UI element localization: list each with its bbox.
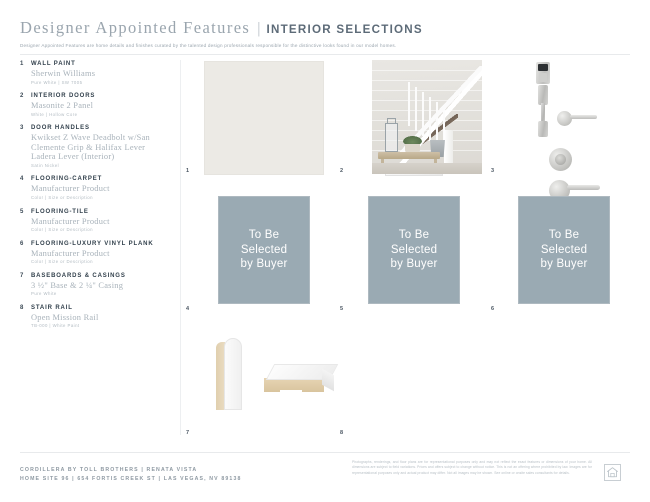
equal-housing-opportunity-icon [604, 464, 621, 481]
footer-community-name: CORDILLERA BY TOLL BROTHERS | RENATA VIS… [20, 466, 242, 475]
spec-product: Sherwin Williams [31, 69, 170, 79]
selection-grid: 1 2 3 [186, 58, 630, 440]
spec-body: Masonite 2 Panel White | Hollow Core [31, 101, 170, 118]
title-separator: | [257, 20, 260, 38]
specification-list: 1 WALL PAINT Sherwin Williams Pure White… [20, 60, 170, 336]
grid-label-8: 8 [340, 430, 343, 436]
list-item: 3 DOOR HANDLES Kwikset Z Wave Deadbolt w… [20, 124, 170, 169]
spec-number: 1 [20, 60, 31, 69]
tbs-text: To BeSelectedby Buyer [241, 228, 288, 272]
spec-product: 3 ½" Base & 2 ¼" Casing [31, 281, 170, 291]
tbs-text: To BeSelectedby Buyer [541, 228, 588, 272]
grid-label-6: 6 [491, 306, 494, 312]
title-row: Designer Appointed Features | INTERIOR S… [20, 18, 630, 38]
spec-detail: Pure White | SW 7005 [31, 80, 170, 86]
spec-body: Sherwin Williams Pure White | SW 7005 [31, 69, 170, 86]
grid-label-5: 5 [340, 306, 343, 312]
brochure-page: Designer Appointed Features | INTERIOR S… [0, 0, 650, 502]
list-item: 2 INTERIOR DOORS Masonite 2 Panel White … [20, 92, 170, 118]
spec-detail: Color | Size or Description [31, 259, 170, 265]
door-grip-lower [538, 121, 548, 137]
halifax-lever-handle [570, 115, 597, 119]
spec-number: 3 [20, 124, 31, 133]
spec-number: 2 [20, 92, 31, 101]
tbs-text: To BeSelectedby Buyer [391, 228, 438, 272]
spec-body: Manufacturer Product Color | Size or Des… [31, 249, 170, 266]
list-item: 8 STAIR RAIL Open Mission Rail TB-000 | … [20, 304, 170, 330]
list-item: 1 WALL PAINT Sherwin Williams Pure White… [20, 60, 170, 86]
spec-number: 8 [20, 304, 31, 313]
spec-heading: 8 STAIR RAIL [20, 304, 170, 313]
grid-label-7: 7 [186, 430, 189, 436]
grid-label-2: 2 [340, 168, 343, 174]
spec-category: STAIR RAIL [31, 304, 73, 313]
spec-category: BASEBOARDS & CASINGS [31, 272, 126, 281]
grid-label-4: 4 [186, 306, 189, 312]
spec-number: 7 [20, 272, 31, 281]
list-item: 7 BASEBOARDS & CASINGS 3 ½" Base & 2 ¼" … [20, 272, 170, 298]
keypad-keys [539, 73, 547, 82]
spec-product: Open Mission Rail [31, 313, 170, 323]
to-be-selected-panel-tile: To BeSelectedby Buyer [368, 196, 460, 304]
console-table [378, 152, 440, 159]
baseboard-casing-image [186, 316, 346, 431]
spec-product: Manufacturer Product [31, 184, 170, 194]
spec-category: FLOORING-CARPET [31, 175, 102, 184]
deadbolt-keypad-icon [536, 62, 550, 84]
page-title: Designer Appointed Features [20, 18, 250, 38]
spec-product: Manufacturer Product [31, 217, 170, 227]
spec-detail: White | Hollow Core [31, 112, 170, 118]
deadbolt-thumbturn-icon [549, 148, 572, 171]
paint-swatch-image [204, 61, 324, 175]
spec-detail: Color | Size or Description [31, 195, 170, 201]
list-item: 4 FLOORING-CARPET Manufacturer Product C… [20, 175, 170, 201]
spec-heading: 7 BASEBOARDS & CASINGS [20, 272, 170, 281]
casing-notch [280, 390, 302, 395]
spec-detail: TB-000 | White Paint [31, 323, 170, 329]
spec-category: DOOR HANDLES [31, 124, 90, 133]
spec-body: 3 ½" Base & 2 ¼" Casing Pure White [31, 281, 170, 298]
spec-category: FLOORING-TILE [31, 208, 89, 217]
stair-rail-photo [372, 60, 482, 174]
spec-number: 6 [20, 240, 31, 249]
list-item: 6 FLOORING-LUXURY VINYL PLANK Manufactur… [20, 240, 170, 266]
casing-profile [264, 364, 336, 400]
footer-legal: Photographs, renderings, and floor plans… [352, 460, 592, 476]
spec-category: WALL PAINT [31, 60, 76, 69]
spec-number: 4 [20, 175, 31, 184]
spec-detail: Satin Nickel [31, 163, 170, 169]
spec-heading: 1 WALL PAINT [20, 60, 170, 69]
header-divider [20, 54, 630, 55]
spec-body: Open Mission Rail TB-000 | White Paint [31, 313, 170, 330]
spec-detail: Color | Size or Description [31, 227, 170, 233]
spec-body: Manufacturer Product Color | Size or Des… [31, 184, 170, 201]
spec-heading: 6 FLOORING-LUXURY VINYL PLANK [20, 240, 170, 249]
spec-heading: 5 FLOORING-TILE [20, 208, 170, 217]
keypad-screen [538, 64, 548, 71]
spec-product: Masonite 2 Panel [31, 101, 170, 111]
spec-product: Manufacturer Product [31, 249, 170, 259]
baseboard-face [224, 338, 242, 410]
grid-label-1: 1 [186, 168, 189, 174]
spec-heading: 2 INTERIOR DOORS [20, 92, 170, 101]
spec-product: Kwikset Z Wave Deadbolt w/San Clemente G… [31, 133, 170, 162]
spec-heading: 4 FLOORING-CARPET [20, 175, 170, 184]
page-header: Designer Appointed Features | INTERIOR S… [20, 18, 630, 48]
spec-category: FLOORING-LUXURY VINYL PLANK [31, 240, 154, 249]
spec-body: Kwikset Z Wave Deadbolt w/San Clemente G… [31, 133, 170, 169]
footer-address: HOME SITE 96 | 654 FORTIS CREEK ST | LAS… [20, 475, 242, 484]
spec-category: INTERIOR DOORS [31, 92, 95, 101]
footer-community-info: CORDILLERA BY TOLL BROTHERS | RENATA VIS… [20, 466, 242, 484]
header-description: Designer Appointed Features are home det… [20, 43, 630, 48]
page-subtitle: INTERIOR SELECTIONS [266, 23, 422, 36]
decorative-lantern [385, 123, 398, 152]
spec-number: 5 [20, 208, 31, 217]
ladera-lever-handle [567, 185, 600, 190]
floor [372, 163, 482, 174]
spec-heading: 3 DOOR HANDLES [20, 124, 170, 133]
deadbolt-center [555, 154, 566, 165]
grid-label-3: 3 [491, 168, 494, 174]
disclaimer-text: Photographs, renderings, and floor plans… [352, 460, 592, 476]
to-be-selected-panel-carpet: To BeSelectedby Buyer [218, 196, 310, 304]
to-be-selected-panel-lvp: To BeSelectedby Buyer [518, 196, 610, 304]
list-item: 5 FLOORING-TILE Manufacturer Product Col… [20, 208, 170, 234]
spec-body: Manufacturer Product Color | Size or Des… [31, 217, 170, 234]
baseboard-profile [216, 338, 242, 410]
door-grip-upper [538, 85, 548, 105]
vertical-divider [180, 60, 181, 435]
footer-divider [20, 452, 630, 453]
spec-detail: Pure White [31, 291, 170, 297]
